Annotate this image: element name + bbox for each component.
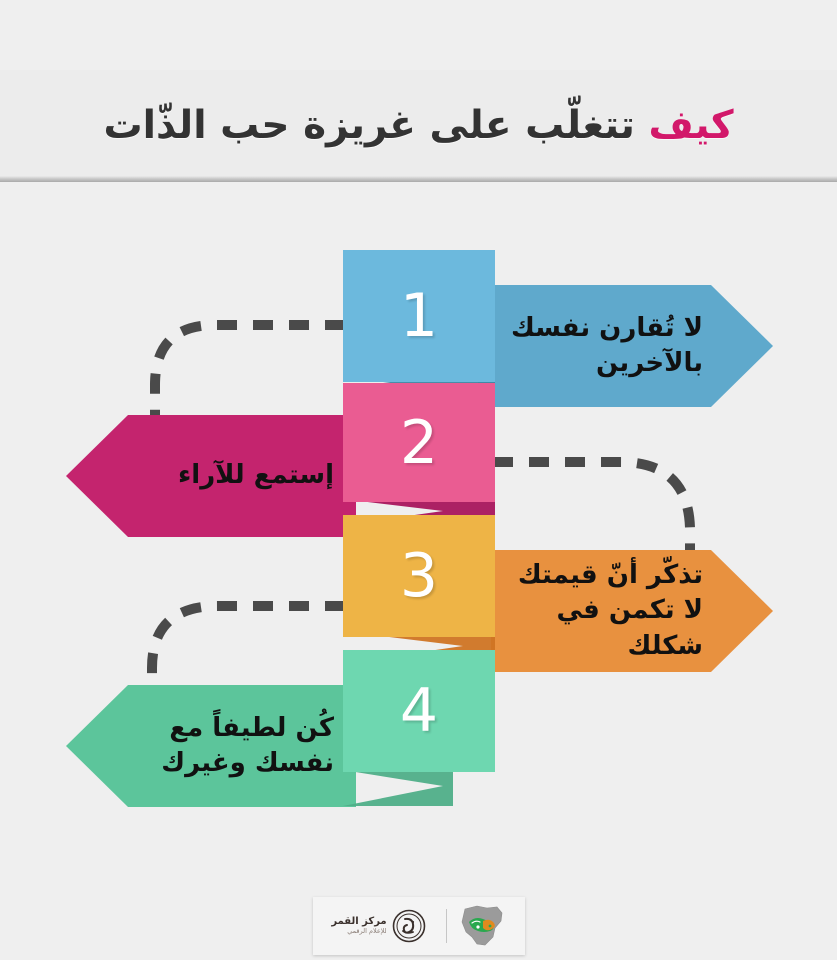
iraq-map-logo-icon	[457, 904, 507, 948]
step-4-number-box: 4	[343, 650, 495, 772]
infographic-canvas: كيف تتغلّب على غريزة حب الذّات لا تُقارن…	[0, 0, 837, 960]
step-1-text: لا تُقارن نفسك بالآخرين	[478, 311, 773, 381]
step-4-box-shadow	[343, 770, 495, 806]
step-2-number: 2	[400, 413, 438, 473]
circular-calligraphy-emblem-icon	[392, 909, 426, 943]
step-1-number-box: 1	[343, 250, 495, 382]
step-4-number: 4	[400, 681, 438, 741]
step-1-number: 1	[400, 286, 438, 346]
page-title-accent: كيف	[648, 103, 733, 148]
step-3-number: 3	[400, 546, 438, 606]
title-banner: كيف تتغلّب على غريزة حب الذّات	[0, 70, 837, 180]
page-title-rest: تتغلّب على غريزة حب الذّات	[103, 103, 648, 148]
logo-iraqi[interactable]	[457, 904, 507, 948]
step-2-text: إستمع للآراء	[66, 458, 356, 493]
step-2-number-box: 2	[343, 383, 495, 502]
step-3-arrow-label-wrap: تذكّر أنّ قيمتك لا تكمن في شكلك	[491, 550, 773, 672]
step-1-arrow-label-wrap: لا تُقارن نفسك بالآخرين	[478, 285, 773, 407]
footer-logo-card: مركز القمر للإعلام الرقمي	[313, 897, 525, 955]
step-4-arrow-label-wrap: كُن لطيفاً مع نفسك وغيرك	[66, 685, 356, 807]
logo-al-qamar[interactable]: مركز القمر للإعلام الرقمي	[331, 909, 435, 943]
logo-al-qamar-text: مركز القمر للإعلام الرقمي	[331, 917, 386, 934]
step-3-text: تذكّر أنّ قيمتك لا تكمن في شكلك	[491, 558, 773, 663]
page-title: كيف تتغلّب على غريزة حب الذّات	[103, 103, 733, 148]
footer-divider	[446, 909, 447, 943]
step-3-number-box: 3	[343, 515, 495, 637]
logo-al-qamar-subtitle: للإعلام الرقمي	[331, 928, 386, 935]
step-2-arrow-label-wrap: إستمع للآراء	[66, 415, 356, 537]
step-4-text: كُن لطيفاً مع نفسك وغيرك	[66, 711, 356, 781]
top-background-strip	[0, 0, 837, 70]
